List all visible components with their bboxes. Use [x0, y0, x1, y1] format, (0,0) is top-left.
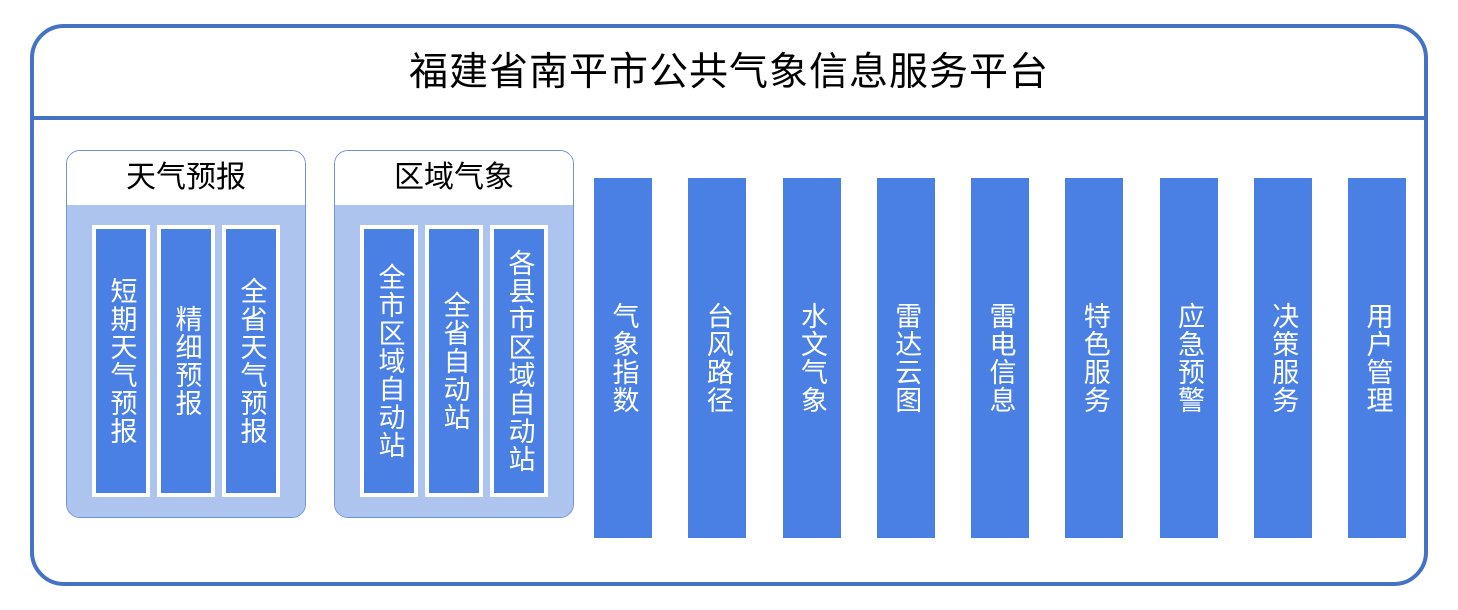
- module-bar-list: 气象指数 台风路径 水文气象 雷达云图 雷电信息 特色服务 应急: [594, 178, 1406, 538]
- module-bar-label: 台风路径: [703, 302, 732, 414]
- group-weather-forecast: 天气预报 短期天气预报 精细预报 全省天气预报: [66, 150, 306, 518]
- module-bar-lightning-info[interactable]: 雷电信息: [971, 178, 1029, 538]
- module-bar-label: 全省天气预报: [237, 277, 266, 445]
- platform-outer-frame: 福建省南平市公共气象信息服务平台 天气预报 短期天气预报 精细预报 全省天气预报: [30, 24, 1428, 586]
- module-bar-label: 雷达云图: [891, 302, 920, 414]
- module-bar-label: 决策服务: [1268, 302, 1297, 414]
- group-regional-meteorology: 区域气象 全市区域自动站 全省自动站 各县市区域自动站: [334, 150, 574, 518]
- module-bar-label: 水文气象: [797, 302, 826, 414]
- group-header-regional-meteorology: 区域气象: [335, 151, 573, 205]
- module-bar-featured-service[interactable]: 特色服务: [1065, 178, 1123, 538]
- module-bar-radar-cloud-map[interactable]: 雷达云图: [877, 178, 935, 538]
- module-bar-label: 精细预报: [172, 305, 201, 417]
- module-bar-short-term-forecast[interactable]: 短期天气预报: [92, 225, 150, 497]
- module-bar-user-management[interactable]: 用户管理: [1348, 178, 1406, 538]
- module-bar-hydro-meteorology[interactable]: 水文气象: [783, 178, 841, 538]
- module-bar-typhoon-path[interactable]: 台风路径: [688, 178, 746, 538]
- module-bar-label: 特色服务: [1080, 302, 1109, 414]
- module-bar-province-auto-station[interactable]: 全省自动站: [425, 225, 483, 497]
- module-bar-label: 气象指数: [609, 302, 638, 414]
- module-bar-label: 应急预警: [1174, 302, 1203, 414]
- group-header-weather-forecast: 天气预报: [67, 151, 305, 205]
- module-bar-province-forecast[interactable]: 全省天气预报: [222, 225, 280, 497]
- page-title: 福建省南平市公共气象信息服务平台: [409, 53, 1049, 92]
- module-bar-label: 全省自动站: [440, 291, 469, 431]
- module-bar-fine-forecast[interactable]: 精细预报: [157, 225, 215, 497]
- module-bar-county-auto-station[interactable]: 各县市区域自动站: [490, 225, 548, 497]
- group-title-weather-forecast: 天气预报: [126, 163, 246, 193]
- module-bar-decision-service[interactable]: 决策服务: [1254, 178, 1312, 538]
- module-bar-emergency-warning[interactable]: 应急预警: [1160, 178, 1218, 538]
- group-body-regional-meteorology: 全市区域自动站 全省自动站 各县市区域自动站: [335, 205, 573, 517]
- platform-content: 天气预报 短期天气预报 精细预报 全省天气预报 区域气象: [34, 120, 1424, 586]
- module-bar-city-auto-station[interactable]: 全市区域自动站: [360, 225, 418, 497]
- module-bar-label: 全市区域自动站: [375, 263, 404, 459]
- group-body-weather-forecast: 短期天气预报 精细预报 全省天气预报: [67, 205, 305, 517]
- module-bar-label: 各县市区域自动站: [505, 249, 534, 473]
- platform-title-bar: 福建省南平市公共气象信息服务平台: [34, 28, 1424, 116]
- module-bar-weather-index[interactable]: 气象指数: [594, 178, 652, 538]
- module-bar-label: 用户管理: [1363, 302, 1392, 414]
- module-bar-label: 短期天气预报: [107, 277, 136, 445]
- platform-diagram: 福建省南平市公共气象信息服务平台 天气预报 短期天气预报 精细预报 全省天气预报: [0, 0, 1458, 610]
- group-title-regional-meteorology: 区域气象: [394, 163, 514, 193]
- module-bar-label: 雷电信息: [986, 302, 1015, 414]
